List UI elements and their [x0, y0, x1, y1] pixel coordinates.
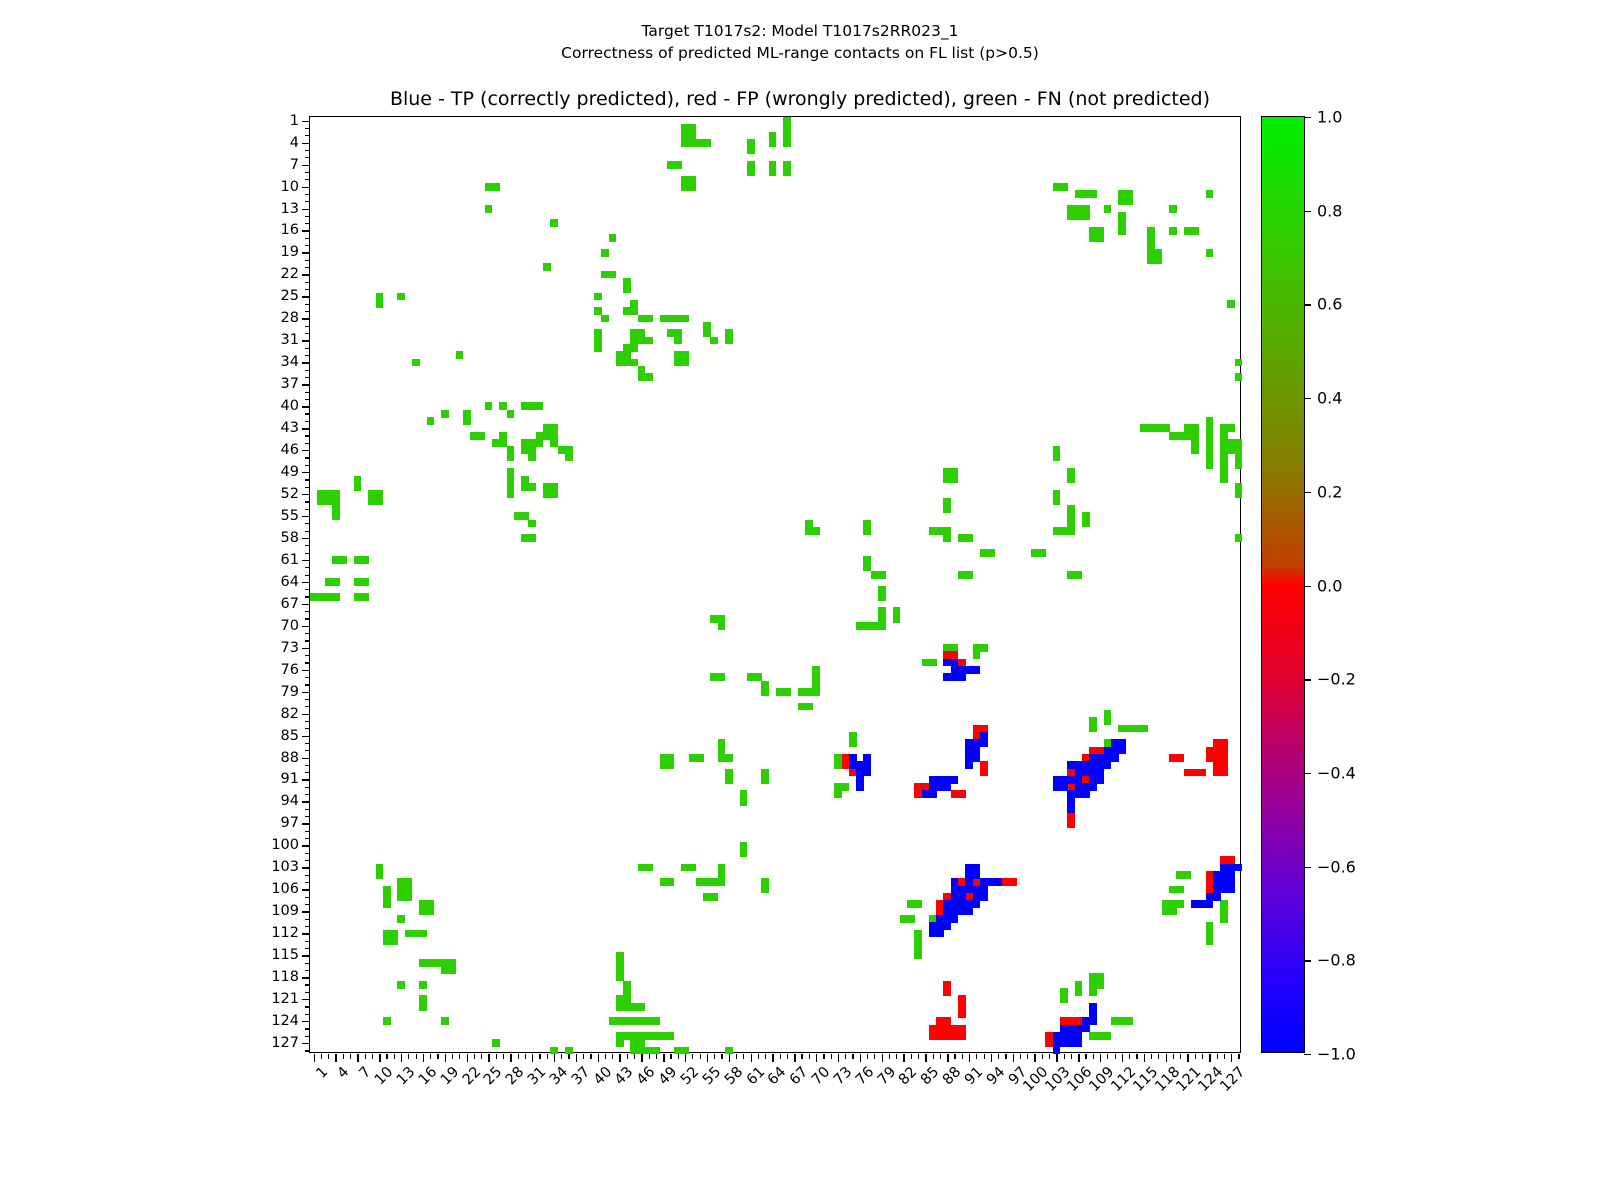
x-axis-tick-label: 91: [962, 1064, 986, 1088]
fn-cell: [783, 139, 791, 147]
fn-cell: [696, 754, 704, 762]
y-tick-minor: [305, 326, 310, 327]
x-tick-major: [1100, 1054, 1101, 1062]
x-axis-tick-label: 16: [416, 1064, 440, 1088]
fn-cell: [718, 622, 726, 630]
x-tick-major: [685, 1054, 686, 1062]
fn-cell: [492, 1039, 500, 1047]
fn-cell: [1184, 227, 1192, 235]
x-tick-minor: [1202, 1054, 1203, 1059]
fn-cell: [834, 790, 842, 798]
fn-cell: [492, 183, 500, 191]
fn-cell: [1235, 490, 1243, 498]
y-tick-minor: [305, 531, 310, 532]
fn-cell: [397, 915, 405, 923]
title-line-2: Correctness of predicted ML-range contac…: [0, 42, 1600, 64]
y-tick-minor: [305, 157, 310, 158]
x-tick-minor: [852, 1054, 853, 1059]
x-tick-major: [729, 1054, 730, 1062]
y-tick-minor: [305, 882, 310, 883]
tp-cell: [1075, 1032, 1083, 1040]
fn-cell: [565, 454, 573, 462]
fn-cell: [1191, 227, 1199, 235]
x-axis-tick-label: 10: [372, 1064, 396, 1088]
fn-cell: [427, 908, 435, 916]
tp-cell: [951, 915, 959, 923]
x-tick-minor: [328, 1054, 329, 1059]
fn-cell: [1169, 908, 1177, 916]
x-tick-major: [576, 1054, 577, 1062]
fn-cell: [1067, 527, 1075, 535]
tp-cell: [994, 878, 1002, 886]
tp-cell: [929, 790, 937, 798]
y-tick-major: [302, 648, 310, 649]
x-tick-minor: [1085, 1054, 1086, 1059]
x-tick-major: [969, 1054, 970, 1062]
x-tick-minor: [670, 1054, 671, 1059]
x-tick-minor: [503, 1054, 504, 1059]
x-tick-major: [423, 1054, 424, 1062]
fp-cell: [980, 769, 988, 777]
y-tick-minor: [305, 377, 310, 378]
x-tick-minor: [911, 1054, 912, 1059]
x-tick-minor: [743, 1054, 744, 1059]
fn-cell: [521, 476, 529, 484]
y-tick-minor: [305, 1006, 310, 1007]
fn-cell: [638, 329, 646, 337]
x-tick-major: [707, 1054, 708, 1062]
tp-cell: [1082, 790, 1090, 798]
y-tick-minor: [305, 589, 310, 590]
fn-cell: [761, 688, 769, 696]
x-tick-minor: [1071, 1054, 1072, 1059]
x-tick-minor: [1173, 1054, 1174, 1059]
x-tick-minor: [590, 1054, 591, 1059]
y-axis-tick-label: 91: [281, 771, 299, 787]
fp-cell: [1067, 820, 1075, 828]
fn-cell: [405, 886, 413, 894]
y-axis-tick-label: 55: [281, 508, 299, 524]
fp-cell: [1009, 878, 1017, 886]
x-axis-tick-label: 88: [940, 1064, 964, 1088]
y-tick-major: [302, 911, 310, 912]
tp-cell: [973, 886, 981, 894]
x-tick-major: [1122, 1054, 1123, 1062]
y-tick-minor: [305, 282, 310, 283]
fn-cell: [550, 439, 558, 447]
x-tick-major: [1166, 1054, 1167, 1062]
y-tick-minor: [305, 421, 310, 422]
x-axis-tick-label: 34: [547, 1064, 571, 1088]
y-tick-minor: [305, 948, 310, 949]
y-tick-minor: [305, 618, 310, 619]
fn-cell: [1053, 454, 1061, 462]
fn-cell: [543, 263, 551, 271]
x-tick-minor: [481, 1054, 482, 1059]
x-tick-minor: [736, 1054, 737, 1059]
y-tick-major: [302, 889, 310, 890]
colorbar-tick-label: −0.8: [1317, 951, 1356, 970]
y-tick-minor: [305, 787, 310, 788]
fn-cell: [878, 593, 886, 601]
fn-cell: [849, 739, 857, 747]
fn-cell: [1104, 205, 1112, 213]
x-axis-tick-label: 7: [357, 1064, 375, 1082]
y-tick-minor: [305, 172, 310, 173]
x-tick-major: [467, 1054, 468, 1062]
x-axis-tick-label: 37: [569, 1064, 593, 1088]
fp-cell: [958, 1032, 966, 1040]
fn-cell: [536, 439, 544, 447]
fn-cell: [594, 344, 602, 352]
y-tick-minor: [305, 311, 310, 312]
x-tick-major: [772, 1054, 773, 1062]
x-tick-minor: [386, 1054, 387, 1059]
x-axis-tick-label: 55: [700, 1064, 724, 1088]
x-tick-minor: [539, 1054, 540, 1059]
x-tick-major: [1056, 1054, 1057, 1062]
y-axis-tick-label: 34: [281, 354, 299, 370]
fn-cell: [1206, 190, 1214, 198]
x-tick-minor: [962, 1054, 963, 1059]
tp-cell: [973, 871, 981, 879]
x-tick-major: [1209, 1054, 1210, 1062]
y-tick-major: [302, 845, 310, 846]
y-axis-tick-label: 112: [271, 925, 299, 941]
figure-root: Target T1017s2: Model T1017s2RR023_1 Cor…: [0, 0, 1600, 1200]
fn-cell: [1220, 915, 1228, 923]
y-axis-tick-label: 73: [281, 640, 299, 656]
x-tick-minor: [656, 1054, 657, 1059]
y-tick-minor: [305, 926, 310, 927]
y-tick-major: [302, 1043, 310, 1044]
fn-cell: [485, 205, 493, 213]
y-tick-minor: [305, 743, 310, 744]
fn-cell: [332, 593, 340, 601]
fn-cell: [689, 864, 697, 872]
fn-cell: [674, 337, 682, 345]
y-tick-major: [302, 867, 310, 868]
fn-cell: [1060, 183, 1068, 191]
x-tick-major: [882, 1054, 883, 1062]
y-axis-tick-label: 61: [281, 552, 299, 568]
fn-cell: [419, 1003, 427, 1011]
x-tick-minor: [430, 1054, 431, 1059]
tp-cell: [1075, 790, 1083, 798]
colorbar-tick: [1304, 586, 1311, 587]
y-tick-major: [302, 516, 310, 517]
y-axis-tick-label: 82: [281, 706, 299, 722]
fn-cell: [528, 483, 536, 491]
tp-cell: [1082, 769, 1090, 777]
fn-cell: [1067, 476, 1075, 484]
y-axis-tick-label: 43: [281, 420, 299, 436]
tp-cell: [1118, 747, 1126, 755]
fn-cell: [376, 300, 384, 308]
fn-cell: [878, 622, 886, 630]
x-tick-minor: [714, 1054, 715, 1059]
y-tick-minor: [305, 963, 310, 964]
y-axis-tick-label: 28: [281, 310, 299, 326]
x-axis-tick-label: 19: [438, 1064, 462, 1088]
fn-cell: [987, 549, 995, 557]
colorbar-tick-label: 1.0: [1317, 108, 1342, 127]
y-tick-minor: [305, 794, 310, 795]
fn-cell: [740, 849, 748, 857]
x-tick-minor: [867, 1054, 868, 1059]
x-tick-minor: [1224, 1054, 1225, 1059]
x-tick-major: [794, 1054, 795, 1062]
x-tick-minor: [1005, 1054, 1006, 1059]
y-tick-major: [302, 670, 310, 671]
x-tick-minor: [1195, 1054, 1196, 1059]
y-axis-tick-label: 52: [281, 486, 299, 502]
fn-cell: [427, 959, 435, 967]
x-tick-minor: [692, 1054, 693, 1059]
fn-cell: [616, 1039, 624, 1047]
y-tick-minor: [305, 413, 310, 414]
x-tick-major: [598, 1054, 599, 1062]
y-axis-tick-label: 4: [290, 135, 299, 151]
x-tick-minor: [605, 1054, 606, 1059]
tp-cell: [1089, 1017, 1097, 1025]
fn-cell: [1155, 256, 1163, 264]
y-axis-tick-label: 100: [271, 837, 299, 853]
colorbar-tick: [1304, 960, 1311, 961]
y-tick-minor: [305, 509, 310, 510]
y-tick-minor: [305, 677, 310, 678]
fn-cell: [1206, 937, 1214, 945]
fn-cell: [1191, 446, 1199, 454]
fn-cell: [1176, 900, 1184, 908]
fn-cell: [427, 417, 435, 425]
x-tick-minor: [1027, 1054, 1028, 1059]
x-tick-minor: [1049, 1054, 1050, 1059]
fn-cell: [1082, 520, 1090, 528]
x-axis-tick-label: 127: [1218, 1064, 1249, 1095]
x-tick-minor: [954, 1054, 955, 1059]
title-line-1: Target T1017s2: Model T1017s2RR023_1: [0, 20, 1600, 42]
x-axis-tick-label: 58: [722, 1064, 746, 1088]
tp-cell: [951, 776, 959, 784]
fp-cell: [1176, 754, 1184, 762]
x-tick-minor: [765, 1054, 766, 1059]
colorbar-tick: [1304, 1054, 1311, 1055]
fn-cell: [783, 168, 791, 176]
fn-cell: [1206, 249, 1214, 257]
fn-cell: [951, 476, 959, 484]
tp-cell: [980, 893, 988, 901]
y-tick-minor: [305, 223, 310, 224]
fn-cell: [1227, 424, 1235, 432]
y-axis-tick-label: 7: [290, 157, 299, 173]
fn-cell: [376, 498, 384, 506]
y-tick-minor: [305, 970, 310, 971]
y-tick-major: [302, 801, 310, 802]
colorbar-tick-label: 0.6: [1317, 295, 1342, 314]
y-tick-major: [302, 560, 310, 561]
tp-cell: [1096, 776, 1104, 784]
fn-cell: [1206, 461, 1214, 469]
fn-cell: [703, 139, 711, 147]
x-tick-major: [379, 1054, 380, 1062]
tp-cell: [943, 783, 951, 791]
x-tick-major: [903, 1054, 904, 1062]
tp-cell: [863, 769, 871, 777]
fn-cell: [1235, 359, 1243, 367]
fn-cell: [878, 571, 886, 579]
contact-map-plot[interactable]: 1471013161922252831343740434649525558616…: [309, 116, 1241, 1053]
colorbar-tick-label: 0.8: [1317, 201, 1342, 220]
fn-cell: [630, 300, 638, 308]
fn-cell: [383, 1017, 391, 1025]
x-tick-minor: [874, 1054, 875, 1059]
y-tick-minor: [305, 596, 310, 597]
fn-cell: [1220, 476, 1228, 484]
tp-cell: [1075, 1039, 1083, 1047]
x-tick-minor: [1093, 1054, 1094, 1059]
x-tick-minor: [408, 1054, 409, 1059]
y-axis-tick-label: 76: [281, 662, 299, 678]
fn-cell: [769, 168, 777, 176]
tp-cell: [1227, 886, 1235, 894]
y-tick-minor: [305, 684, 310, 685]
y-tick-major: [302, 779, 310, 780]
color-legend-text: Blue - TP (correctly predicted), red - F…: [0, 88, 1600, 110]
x-tick-major: [1034, 1054, 1035, 1062]
fn-cell: [747, 168, 755, 176]
x-tick-minor: [547, 1054, 548, 1059]
y-tick-major: [302, 1021, 310, 1022]
fn-cell: [718, 747, 726, 755]
fn-cell: [842, 783, 850, 791]
y-tick-major: [302, 758, 310, 759]
x-tick-major: [751, 1054, 752, 1062]
y-tick-major: [302, 692, 310, 693]
fn-cell: [689, 183, 697, 191]
x-tick-major: [838, 1054, 839, 1062]
fn-cell: [980, 644, 988, 652]
x-tick-minor: [394, 1054, 395, 1059]
fn-cell: [761, 776, 769, 784]
y-tick-minor: [305, 662, 310, 663]
tp-cell: [965, 908, 973, 916]
fn-cell: [812, 527, 820, 535]
x-tick-minor: [1180, 1054, 1181, 1059]
x-tick-major: [314, 1054, 315, 1062]
fn-cell: [463, 417, 471, 425]
y-tick-major: [302, 230, 310, 231]
fn-cell: [536, 402, 544, 410]
y-axis-tick-label: 67: [281, 596, 299, 612]
y-tick-major: [302, 736, 310, 737]
fn-cell: [1235, 373, 1243, 381]
fp-cell: [958, 1010, 966, 1018]
y-tick-minor: [305, 765, 310, 766]
colorbar-tick: [1304, 304, 1311, 305]
y-tick-minor: [305, 992, 310, 993]
y-tick-minor: [305, 640, 310, 641]
y-tick-major: [302, 977, 310, 978]
y-tick-minor: [305, 216, 310, 217]
x-tick-minor: [1217, 1054, 1218, 1059]
tp-cell: [965, 761, 973, 769]
fn-cell: [645, 864, 653, 872]
x-tick-major: [1144, 1054, 1145, 1062]
fn-cell: [623, 1003, 631, 1011]
x-tick-minor: [918, 1054, 919, 1059]
fp-cell: [1198, 769, 1206, 777]
x-tick-minor: [1158, 1054, 1159, 1059]
y-tick-minor: [305, 611, 310, 612]
fn-cell: [1235, 534, 1243, 542]
x-tick-major: [357, 1054, 358, 1062]
y-tick-major: [302, 472, 310, 473]
y-tick-minor: [305, 194, 310, 195]
y-tick-minor: [305, 238, 310, 239]
y-tick-minor: [305, 1014, 310, 1015]
tp-cell: [943, 922, 951, 930]
fn-cell: [601, 315, 609, 323]
colorbar-tick: [1304, 867, 1311, 868]
y-axis-tick-label: 25: [281, 288, 299, 304]
colorbar-tick-label: −0.4: [1317, 763, 1356, 782]
y-tick-minor: [305, 904, 310, 905]
y-tick-minor: [305, 575, 310, 576]
y-tick-major: [302, 955, 310, 956]
x-tick-minor: [634, 1054, 635, 1059]
x-tick-major: [1078, 1054, 1079, 1062]
fn-cell: [405, 893, 413, 901]
x-tick-minor: [721, 1054, 722, 1059]
fn-cell: [914, 900, 922, 908]
y-axis-tick-label: 115: [271, 947, 299, 963]
fn-cell: [805, 703, 813, 711]
x-tick-major: [510, 1054, 511, 1062]
y-tick-minor: [305, 941, 310, 942]
y-tick-minor: [305, 919, 310, 920]
fn-cell: [594, 293, 602, 301]
fn-cell: [667, 1032, 675, 1040]
x-tick-minor: [416, 1054, 417, 1059]
y-tick-major: [302, 143, 310, 144]
tp-cell: [973, 900, 981, 908]
y-tick-minor: [305, 523, 310, 524]
x-tick-minor: [984, 1054, 985, 1059]
x-tick-minor: [940, 1054, 941, 1059]
x-tick-major: [947, 1054, 948, 1062]
fn-cell: [747, 146, 755, 154]
y-tick-major: [302, 274, 310, 275]
fn-cell: [1169, 227, 1177, 235]
fn-cell: [1082, 212, 1090, 220]
fn-cell: [1104, 1032, 1112, 1040]
fn-cell: [361, 593, 369, 601]
x-tick-major: [1231, 1054, 1232, 1062]
x-tick-minor: [933, 1054, 934, 1059]
y-tick-major: [302, 428, 310, 429]
x-tick-minor: [321, 1054, 322, 1059]
fn-cell: [528, 534, 536, 542]
x-tick-minor: [998, 1054, 999, 1059]
fn-cell: [1089, 725, 1097, 733]
fn-cell: [725, 754, 733, 762]
fn-cell: [973, 651, 981, 659]
x-tick-major: [860, 1054, 861, 1062]
x-tick-minor: [896, 1054, 897, 1059]
fn-cell: [448, 966, 456, 974]
x-tick-major: [401, 1054, 402, 1062]
